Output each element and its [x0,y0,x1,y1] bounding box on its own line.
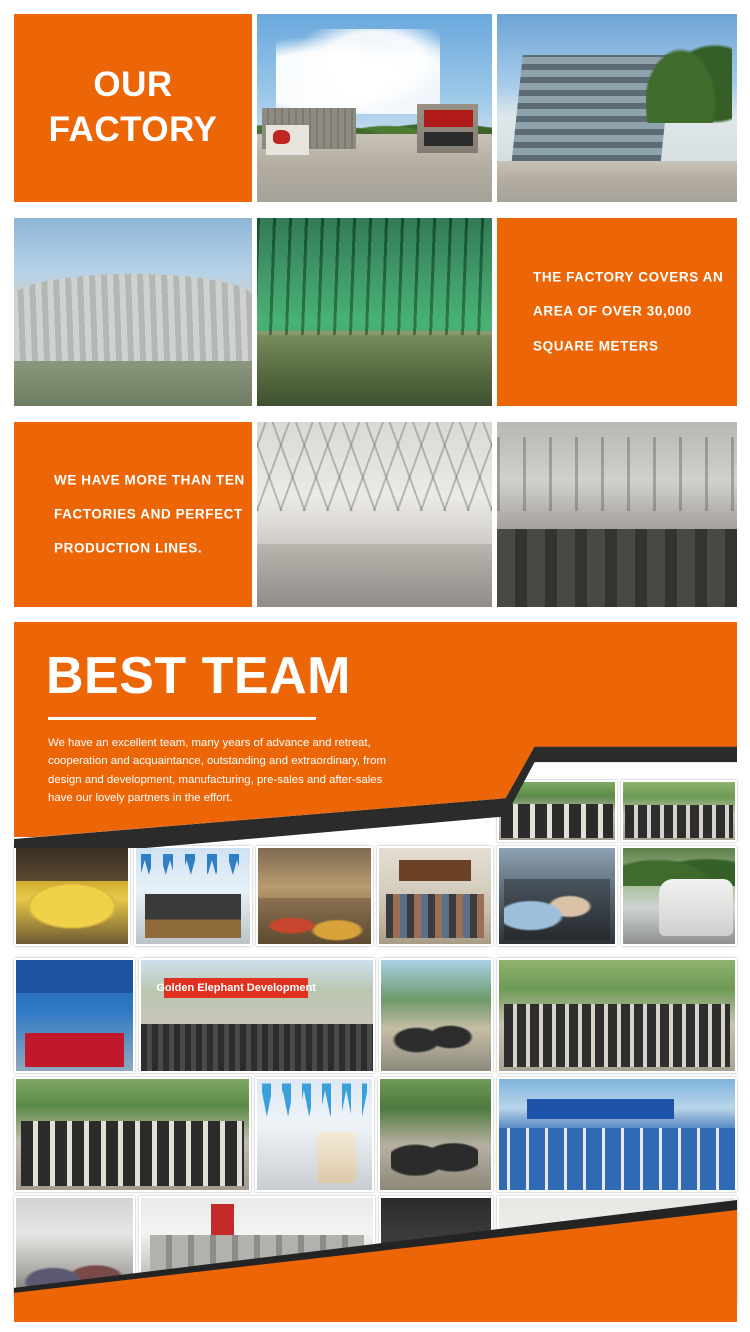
promo-page: OUR FACTORY THE FACTORY COVERS AN A [0,0,750,1332]
our-factory-heading: OUR FACTORY [14,63,252,153]
best-team-underline [48,717,316,720]
factory-photo-bright-workshop [257,422,492,607]
team-photo-seaside-outing [379,958,493,1073]
factory-section: OUR FACTORY THE FACTORY COVERS AN A [0,0,750,610]
factory-photo-machinery-workshop [497,422,737,607]
team-photo-elephant-park: Golden Elephant Development [139,958,375,1073]
team-photo-cake-cutting [255,1077,374,1192]
factory-photo-green-hall [257,218,492,406]
team-photo-workshop-demo [497,846,617,946]
our-factory-line-1: OUR [14,63,252,108]
team-photo-peek-right [621,780,737,842]
our-factory-title-panel: OUR FACTORY [14,14,252,202]
elephant-park-caption: Golden Elephant Development [164,978,308,998]
best-team-paragraph: We have an excellent team, many years of… [48,734,408,808]
factory-callout-lines-text: WE HAVE MORE THAN TEN FACTORIES AND PERF… [54,463,252,566]
team-photo-banquet [14,846,130,946]
team-photo-birthday-party [134,846,252,946]
best-team-title: BEST TEAM [46,650,351,702]
team-photo-two-certificates [378,1077,493,1192]
team-photo-toast [256,846,373,946]
factory-photo-office-building [497,14,737,202]
team-photo-blue-assembly [497,1077,737,1192]
team-photo-group-hall [377,846,493,946]
team-photo-award-ceremony [14,958,135,1073]
team-photo-tour-bus [621,846,737,946]
factory-callout-lines-panel: WE HAVE MORE THAN TEN FACTORIES AND PERF… [14,422,252,607]
team-photo-certificate-group [497,958,737,1073]
team-photo-certificate-lineup [14,1077,251,1192]
our-factory-line-2: FACTORY [14,108,252,153]
factory-photo-gate [257,14,492,202]
factory-callout-area-text: THE FACTORY COVERS AN AREA OF OVER 30,00… [533,260,737,363]
factory-callout-area-panel: THE FACTORY COVERS AN AREA OF OVER 30,00… [497,218,737,406]
factory-photo-warehouse [14,218,252,406]
